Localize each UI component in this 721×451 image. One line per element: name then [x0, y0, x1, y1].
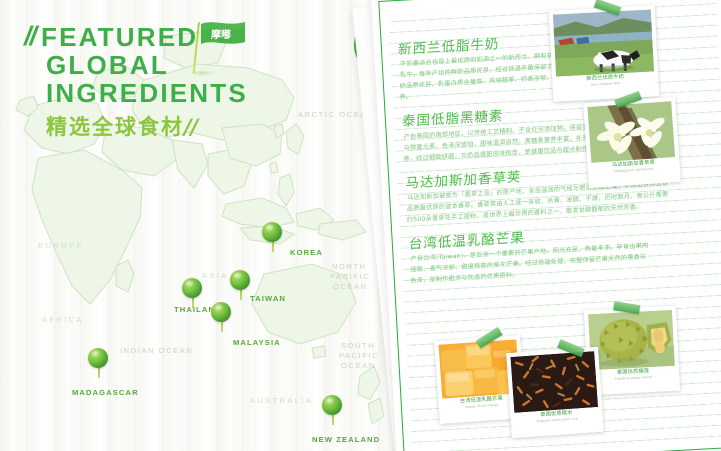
pin-head	[322, 395, 342, 415]
map-pin-label-new-zealand: NEW ZEALAND	[312, 435, 380, 444]
map-label-asia: ASIA	[202, 271, 229, 280]
flag-label: 摩嘟	[211, 26, 231, 41]
map-label-south-pacific-2: PACIFIC	[339, 351, 379, 360]
map-pin-label-malaysia: MALAYSIA	[233, 338, 281, 347]
photo-vanilla[interactable]: 马达加斯加香草荚 Madagascar vanilla pod	[583, 97, 681, 188]
pin-head	[88, 348, 108, 368]
map-pin-madagascar[interactable]	[88, 348, 110, 378]
map-pin-new-zealand[interactable]	[322, 395, 344, 425]
map-label-south-pacific-3: OCEAN	[341, 361, 376, 370]
map-label-south-pacific-1: SOUTH	[341, 341, 375, 350]
map-label-australia: AUSTRALIA	[250, 396, 313, 405]
flag-shadow	[189, 70, 215, 76]
photo-image-durian	[588, 310, 675, 370]
pin-head	[230, 270, 250, 290]
title-chinese-row: 精选全球食材//	[46, 111, 324, 141]
map-pin-label-taiwan: TAIWAN	[250, 294, 286, 303]
map-label-north-pacific-2: PACIFIC	[330, 272, 370, 281]
map-pin-malaysia[interactable]	[211, 302, 233, 332]
note-taiwan-mango: 台湾低温乳酪芒果 产自台湾(Taiwan)，是亚洲一个重要的芒果产地，阳光充足、…	[408, 218, 721, 287]
photo-image-vanilla	[587, 101, 675, 163]
brand-flag: 摩嘟	[185, 12, 247, 74]
map-label-north-pacific-3: OCEAN	[333, 282, 368, 291]
photo-rice[interactable]: 泰国优质糙米 Thailand whole grain rice	[506, 347, 604, 438]
poster-canvas: EUROPE AFRICA ASIA AUSTRALIA ARCTIC OCEA…	[0, 0, 721, 451]
title-slash-prefix: //	[24, 24, 35, 50]
map-pin-thailand[interactable]	[182, 278, 204, 308]
title-line-ingredients: INGREDIENTS	[46, 80, 324, 108]
pin-highlight	[326, 398, 333, 403]
pin-highlight	[186, 281, 193, 286]
map-pin-taiwan[interactable]	[230, 270, 252, 300]
title-slash-suffix: //	[184, 115, 197, 139]
map-pin-label-madagascar: MADAGASCAR	[72, 388, 139, 397]
map-pin-korea[interactable]	[262, 222, 284, 252]
photo-nz-milk[interactable]: 新西兰优质牛奶 New Zealand Milk	[549, 5, 660, 102]
title-line-featured: FEATURED	[41, 24, 198, 52]
photo-image-cow	[553, 9, 654, 76]
pin-highlight	[234, 273, 241, 278]
pin-head	[182, 278, 202, 298]
pin-highlight	[92, 351, 99, 356]
title-chinese: 精选全球食材	[46, 115, 184, 139]
map-label-north-pacific-1: NORTH	[332, 262, 367, 271]
pin-highlight	[266, 225, 273, 230]
pin-head	[262, 222, 282, 242]
photo-image-rice	[510, 351, 598, 413]
pin-highlight	[215, 305, 222, 310]
page-title: // FEATURED GLOBAL INGREDIENTS 精选全球食材//	[24, 24, 324, 141]
map-label-indian-ocean: INDIAN OCEAN	[120, 346, 193, 355]
map-label-europe: EUROPE	[38, 241, 84, 250]
map-pin-label-korea: KOREA	[290, 248, 323, 257]
map-label-africa: AFRICA	[42, 315, 84, 324]
pin-head	[211, 302, 231, 322]
